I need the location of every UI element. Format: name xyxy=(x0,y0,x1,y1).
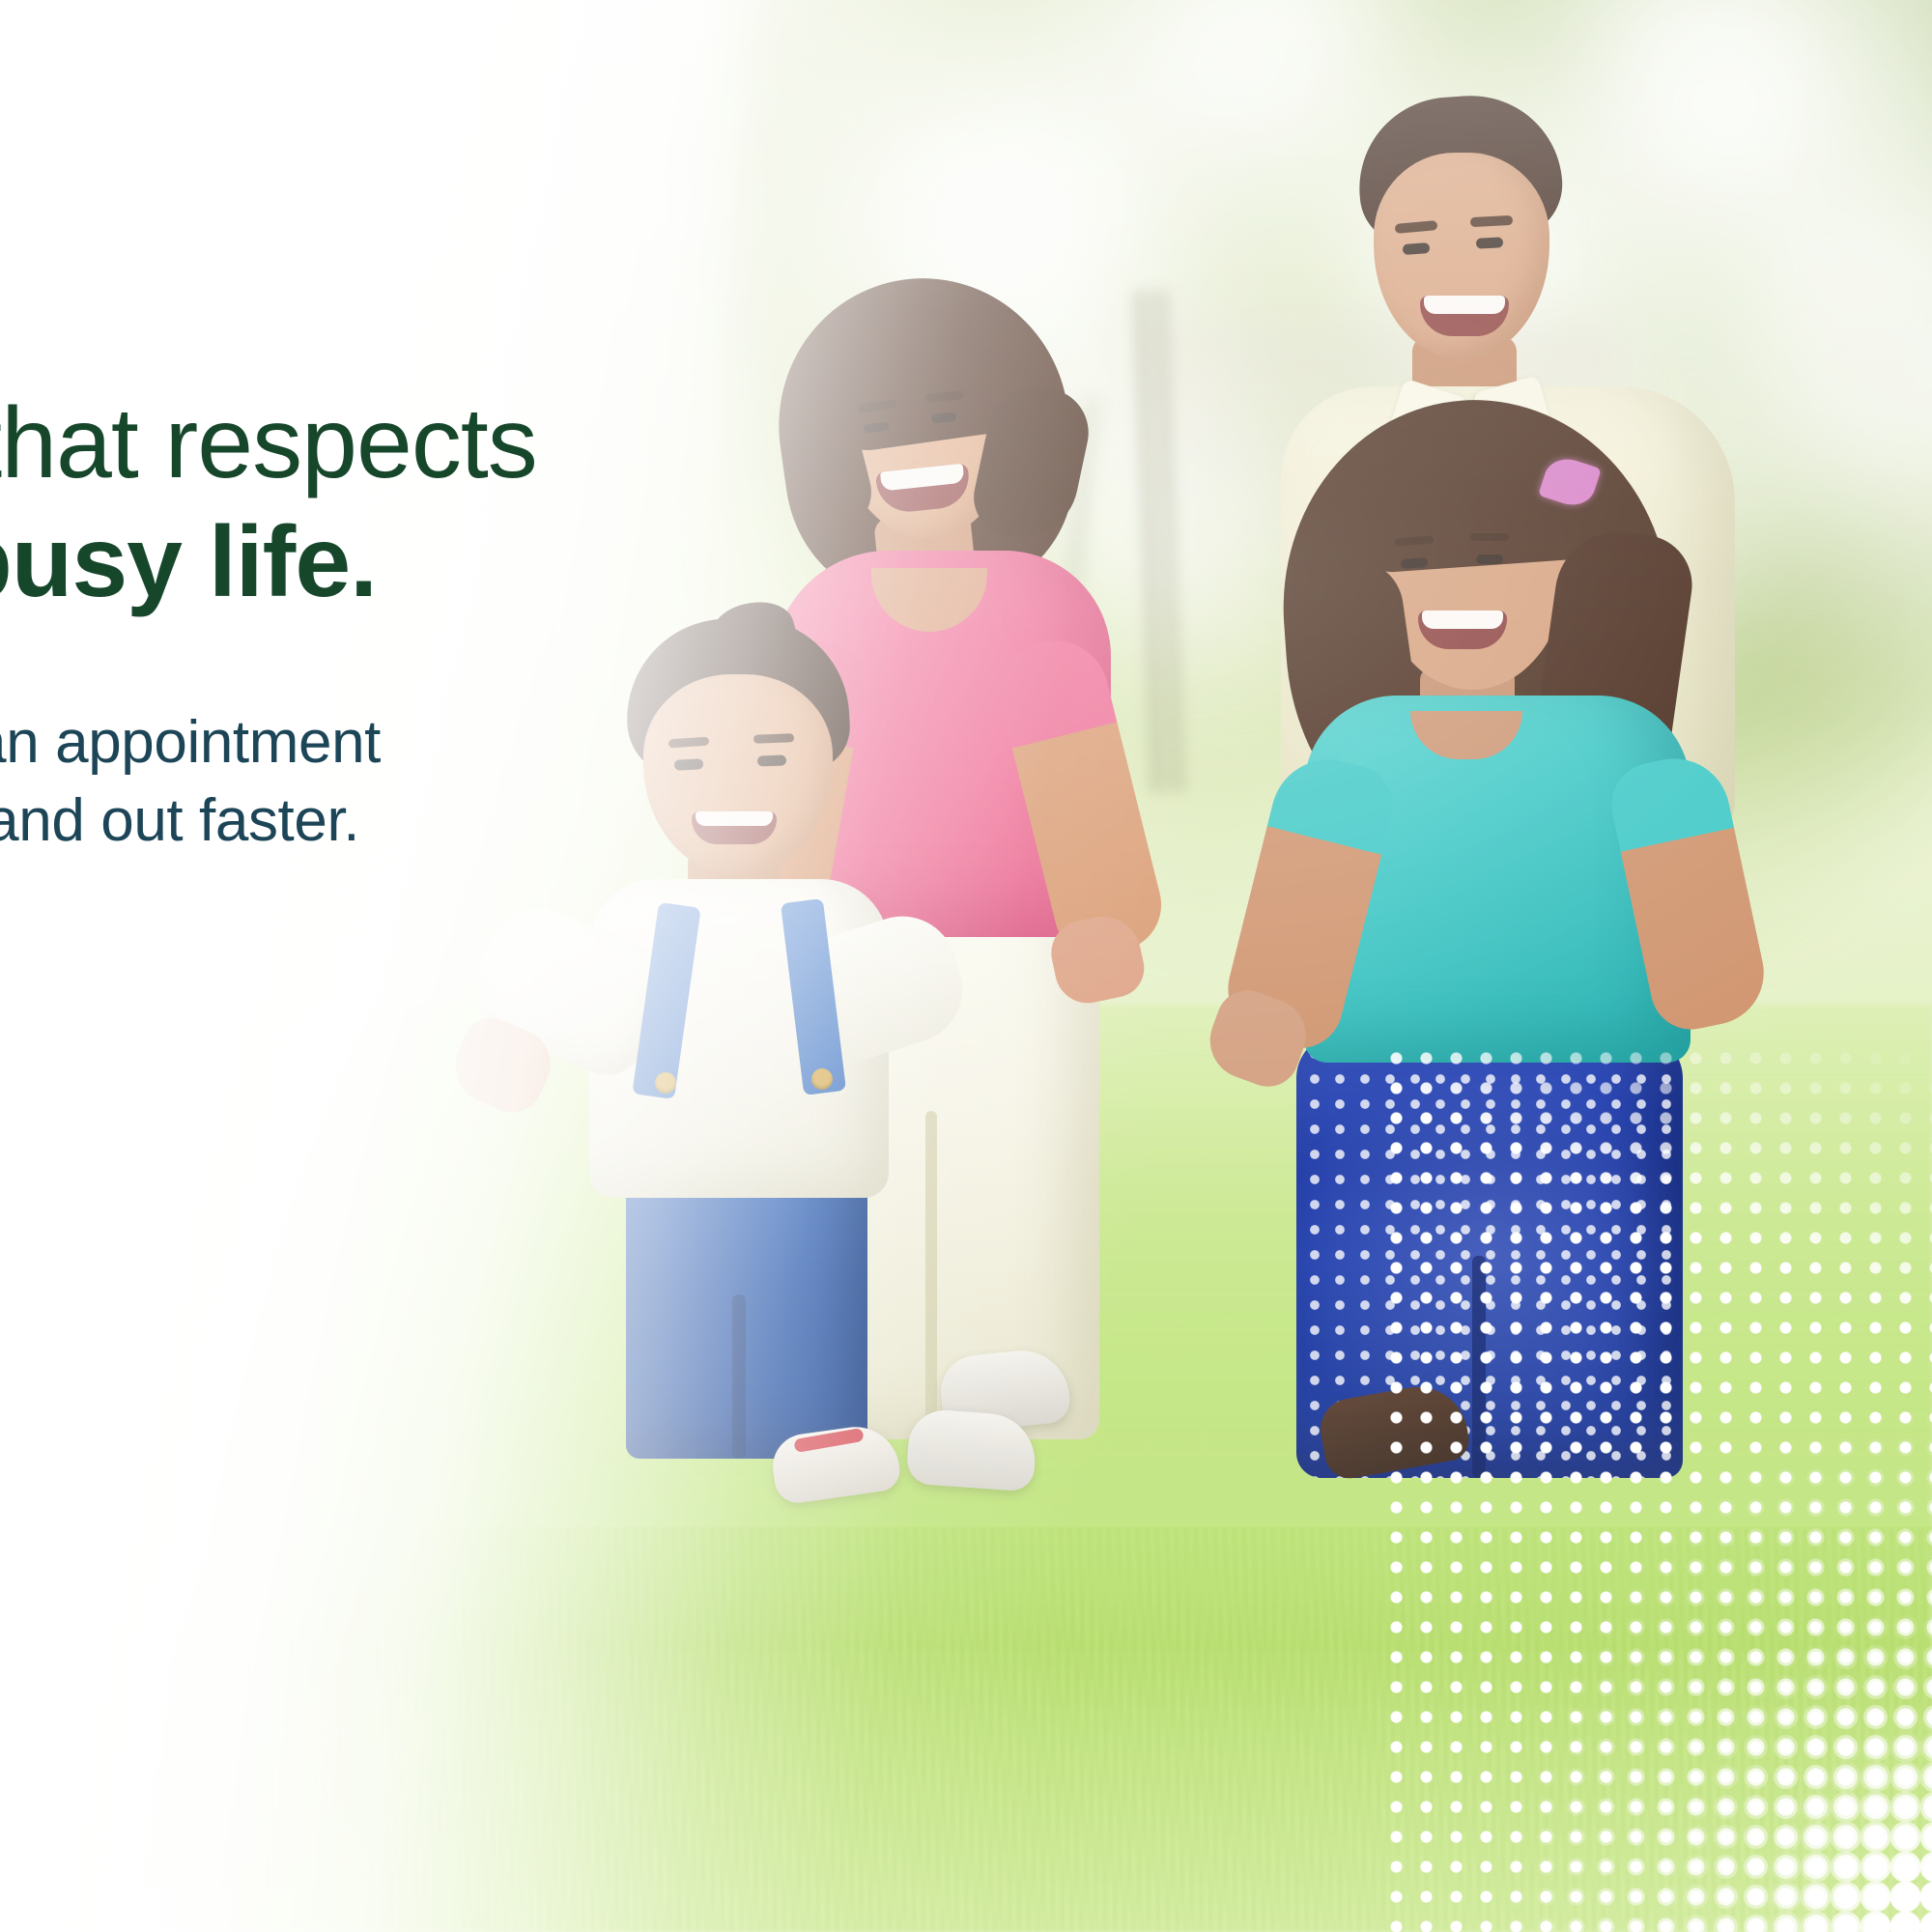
banner-copy: A lab that respects your busy life. Sche… xyxy=(0,384,676,861)
girl-eye-right xyxy=(1476,554,1503,564)
father-eye-left xyxy=(1403,242,1431,255)
headline-line-1-rest: that respects xyxy=(0,387,537,499)
marketing-banner: A lab that respects your busy life. Sche… xyxy=(0,0,1932,1932)
girl-eyebrow-right xyxy=(1470,533,1509,541)
boy-eye-right xyxy=(757,754,786,766)
boy-overalls-seam xyxy=(732,1294,746,1459)
headline-line-1: A lab that respects xyxy=(0,384,676,503)
headline-line-2: your busy life. xyxy=(0,503,676,622)
father-eye-right xyxy=(1476,237,1504,248)
subcopy-line-2: and get in and out faster. xyxy=(0,782,676,861)
boy-overall-button-right xyxy=(811,1068,833,1090)
subcopy-line-1: Schedule an appointment xyxy=(0,704,676,782)
boy-overall-button-left xyxy=(655,1072,676,1094)
banner-headline: A lab that respects your busy life. xyxy=(0,384,676,621)
girl-jeans-seam xyxy=(1472,1256,1486,1478)
girl-eye-left xyxy=(1401,557,1429,569)
girl-mouth xyxy=(1418,611,1507,649)
grass-foreground xyxy=(0,1546,1932,1932)
boy-mouth xyxy=(692,811,777,844)
boy-eyebrow-right xyxy=(753,733,794,743)
banner-subcopy: Schedule an appointment and get in and o… xyxy=(0,621,676,860)
person-girl xyxy=(1265,367,1806,1468)
boy-eye-left xyxy=(674,758,704,771)
family-park-photo xyxy=(0,0,1932,1932)
